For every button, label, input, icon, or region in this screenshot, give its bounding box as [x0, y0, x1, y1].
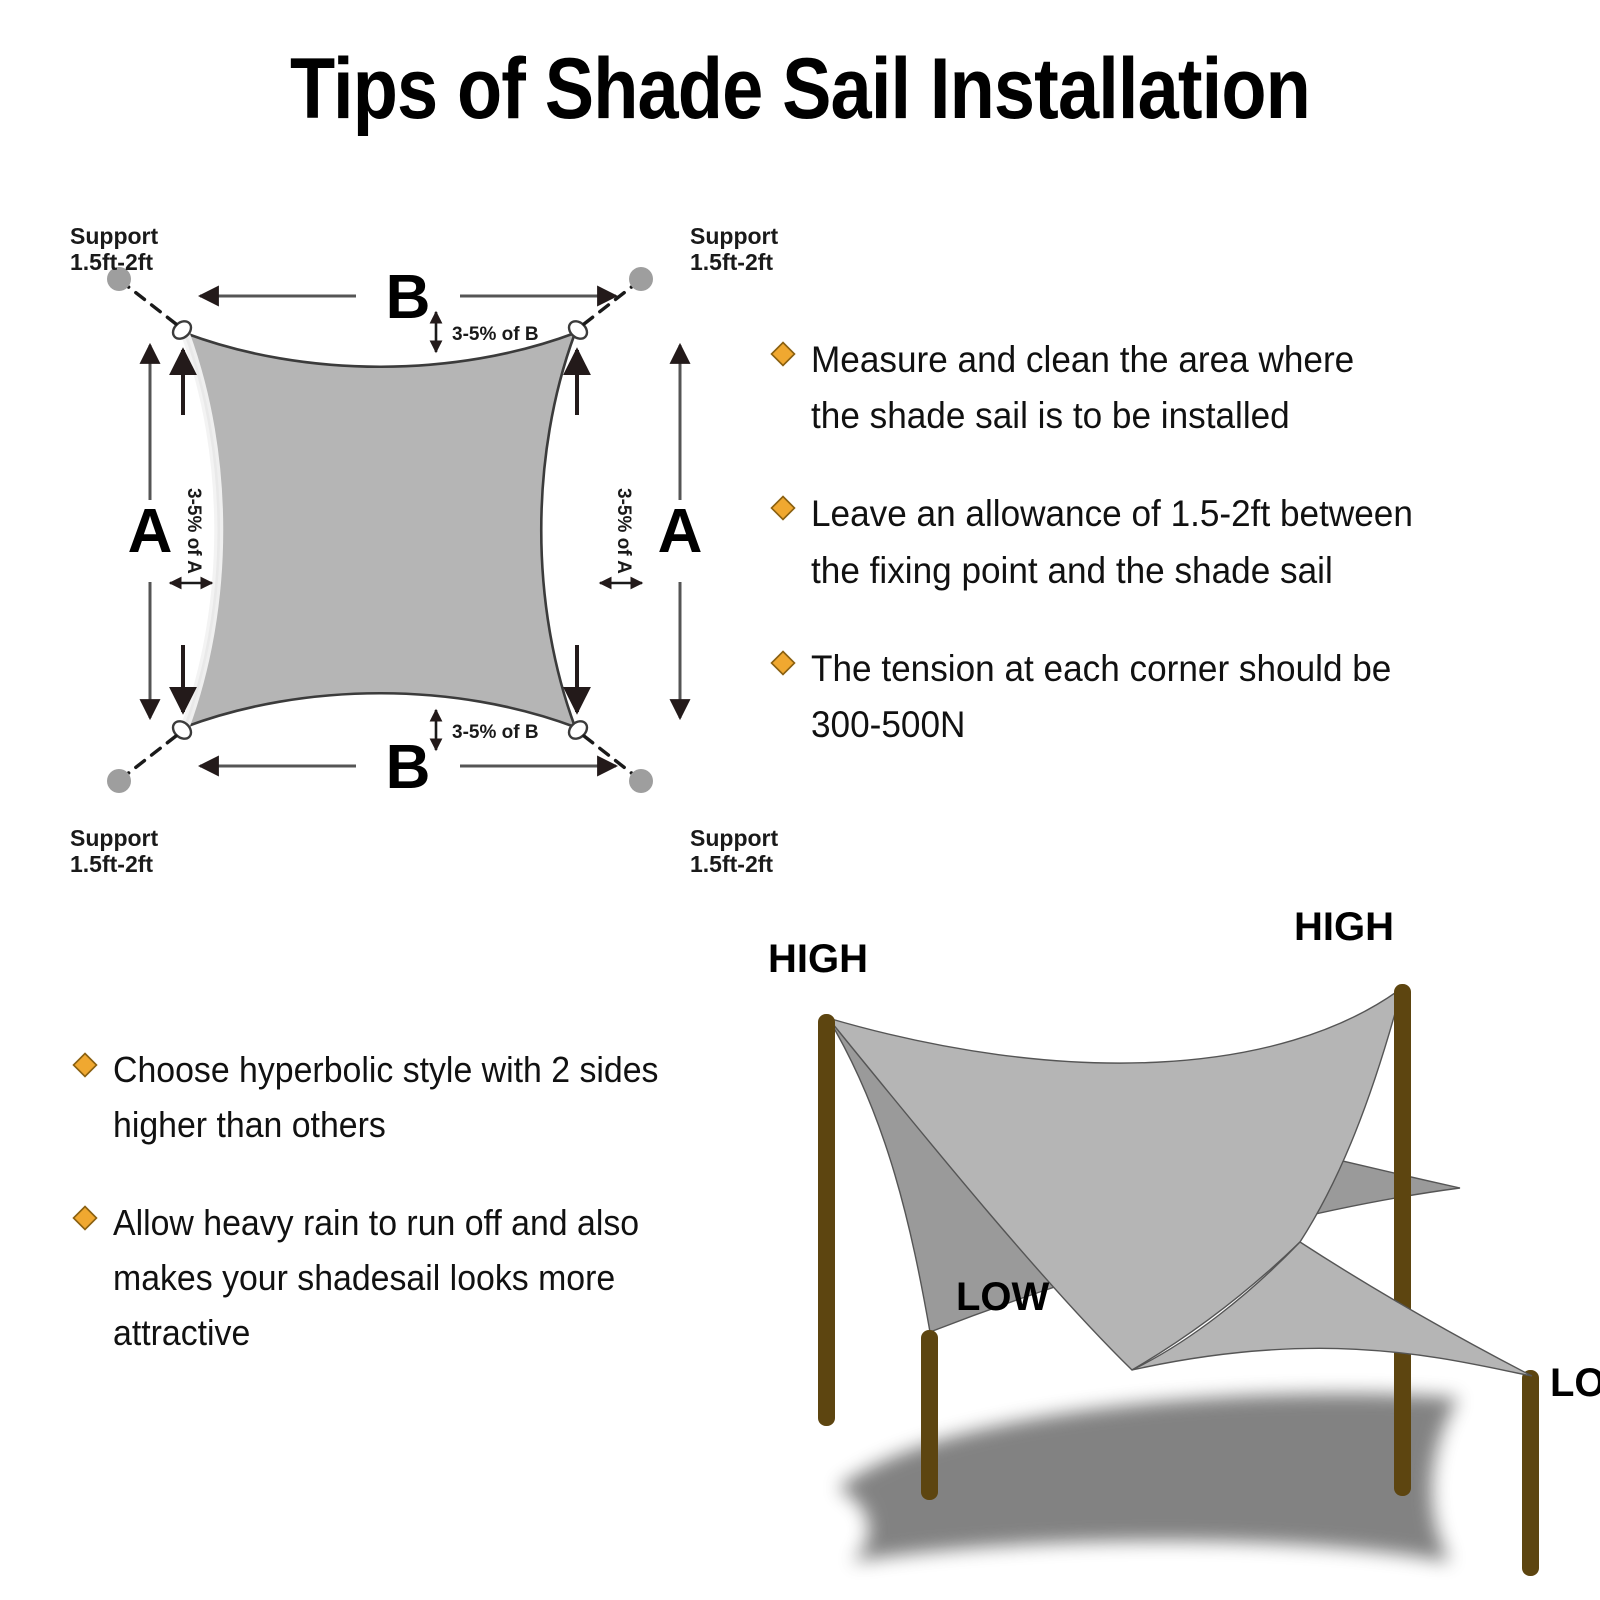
dimension-label-B-bottom: B	[386, 733, 431, 802]
post-right-high	[1394, 984, 1411, 1496]
tip-text: Choose hyperbolic style with 2 sideshigh…	[113, 1043, 658, 1152]
diamond-bullet-icon	[72, 1052, 98, 1078]
support-tether-bottom-left	[107, 736, 176, 793]
post-left-high	[818, 1014, 835, 1426]
support-dot-top-right	[629, 267, 653, 291]
label-right-high: HIGH	[1294, 905, 1394, 949]
support-label-line1: Support	[690, 825, 778, 851]
dimension-top-width-B: B	[200, 263, 616, 332]
curvature-note-left: 3-5% of A	[170, 488, 212, 583]
dimension-label-A-left: A	[128, 497, 173, 566]
support-label-top-left: Support 1.5ft-2ft	[70, 223, 158, 275]
tip-text: The tension at each corner should be300-…	[811, 641, 1391, 753]
tip-text: Measure and clean the area wherethe shad…	[811, 332, 1354, 444]
list-item: Allow heavy rain to run off and alsomake…	[72, 1196, 772, 1360]
curvature-label-right: 3-5% of A	[613, 488, 634, 574]
tip-text: Leave an allowance of 1.5-2ft betweenthe…	[811, 486, 1413, 598]
support-tether-top-left	[107, 267, 176, 324]
curvature-label-top: 3-5% of B	[452, 324, 539, 345]
dimension-label-A-right: A	[658, 497, 703, 566]
support-label-line1: Support	[70, 825, 158, 851]
curvature-note-top: 3-5% of B	[436, 312, 539, 352]
curvature-note-bottom: 3-5% of B	[436, 710, 539, 750]
diamond-bullet-icon	[770, 650, 796, 676]
post-mid-low	[921, 1330, 938, 1500]
dimension-left-height-A: A	[128, 345, 173, 718]
support-label-line1: Support	[690, 223, 778, 249]
support-dot-bottom-left	[107, 769, 131, 793]
diamond-bullet-icon	[770, 341, 796, 367]
support-label-line2: 1.5ft-2ft	[70, 851, 153, 877]
label-left-high: HIGH	[768, 937, 868, 981]
hyperbolic-sail-diagram: HIGH HIGH LOW LOW	[760, 890, 1600, 1590]
label-mid-low: LOW	[956, 1275, 1050, 1319]
diamond-bullet-icon	[72, 1205, 98, 1231]
tip-text: Allow heavy rain to run off and alsomake…	[113, 1196, 639, 1360]
label-right-low: LOW	[1550, 1361, 1600, 1405]
tips-list-bottom: Choose hyperbolic style with 2 sideshigh…	[72, 1043, 772, 1405]
list-item: Leave an allowance of 1.5-2ft betweenthe…	[770, 486, 1560, 598]
support-label-bottom-left: Support 1.5ft-2ft	[70, 825, 158, 877]
shade-sail-shape	[185, 333, 575, 727]
post-far-right-low	[1522, 1370, 1539, 1576]
list-item: The tension at each corner should be300-…	[770, 641, 1560, 753]
dimension-label-B-top: B	[386, 263, 431, 332]
list-item: Measure and clean the area wherethe shad…	[770, 332, 1560, 444]
support-label-line2: 1.5ft-2ft	[70, 249, 153, 275]
page-title: Tips of Shade Sail Installation	[112, 44, 1488, 134]
support-label-line1: Support	[70, 223, 158, 249]
support-label-bottom-right: Support 1.5ft-2ft	[690, 825, 778, 877]
tips-list-top: Measure and clean the area wherethe shad…	[770, 332, 1560, 795]
list-item: Choose hyperbolic style with 2 sideshigh…	[72, 1043, 772, 1152]
dimension-right-height-A: A	[658, 345, 703, 718]
support-dot-bottom-right	[629, 769, 653, 793]
diamond-bullet-icon	[770, 495, 796, 521]
curvature-label-bottom: 3-5% of B	[452, 722, 539, 743]
curvature-note-right: 3-5% of A	[600, 488, 642, 583]
dimension-bottom-width-B: B	[200, 733, 616, 802]
support-label-line2: 1.5ft-2ft	[690, 249, 773, 275]
support-label-top-right: Support 1.5ft-2ft	[690, 223, 778, 275]
curvature-label-left: 3-5% of A	[183, 488, 204, 574]
support-label-line2: 1.5ft-2ft	[690, 851, 773, 877]
rectangular-sail-dimension-diagram: Support 1.5ft-2ft Support 1.5ft-2ft Supp…	[40, 200, 820, 900]
